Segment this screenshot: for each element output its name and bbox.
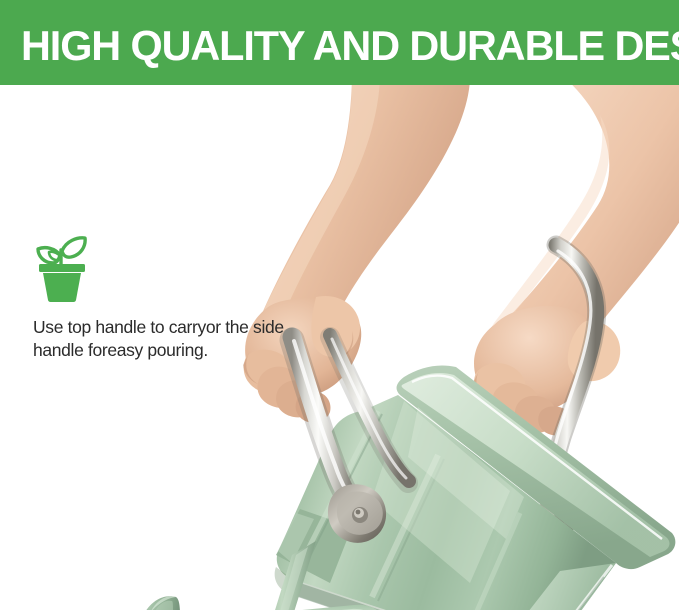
callout-text: Use top handle to carryor the side handl… xyxy=(33,316,295,362)
callout-line-1: Use top handle to carryor the xyxy=(33,317,249,337)
header-banner: HIGH QUALITY AND DURABLE DESIGN xyxy=(0,0,679,85)
potted-plant-icon xyxy=(33,236,91,302)
product-feature-card: HIGH QUALITY AND DURABLE DESIGN xyxy=(0,0,679,610)
feature-callout: Use top handle to carryor the side handl… xyxy=(33,236,295,362)
page-title: HIGH QUALITY AND DURABLE DESIGN xyxy=(21,22,679,70)
